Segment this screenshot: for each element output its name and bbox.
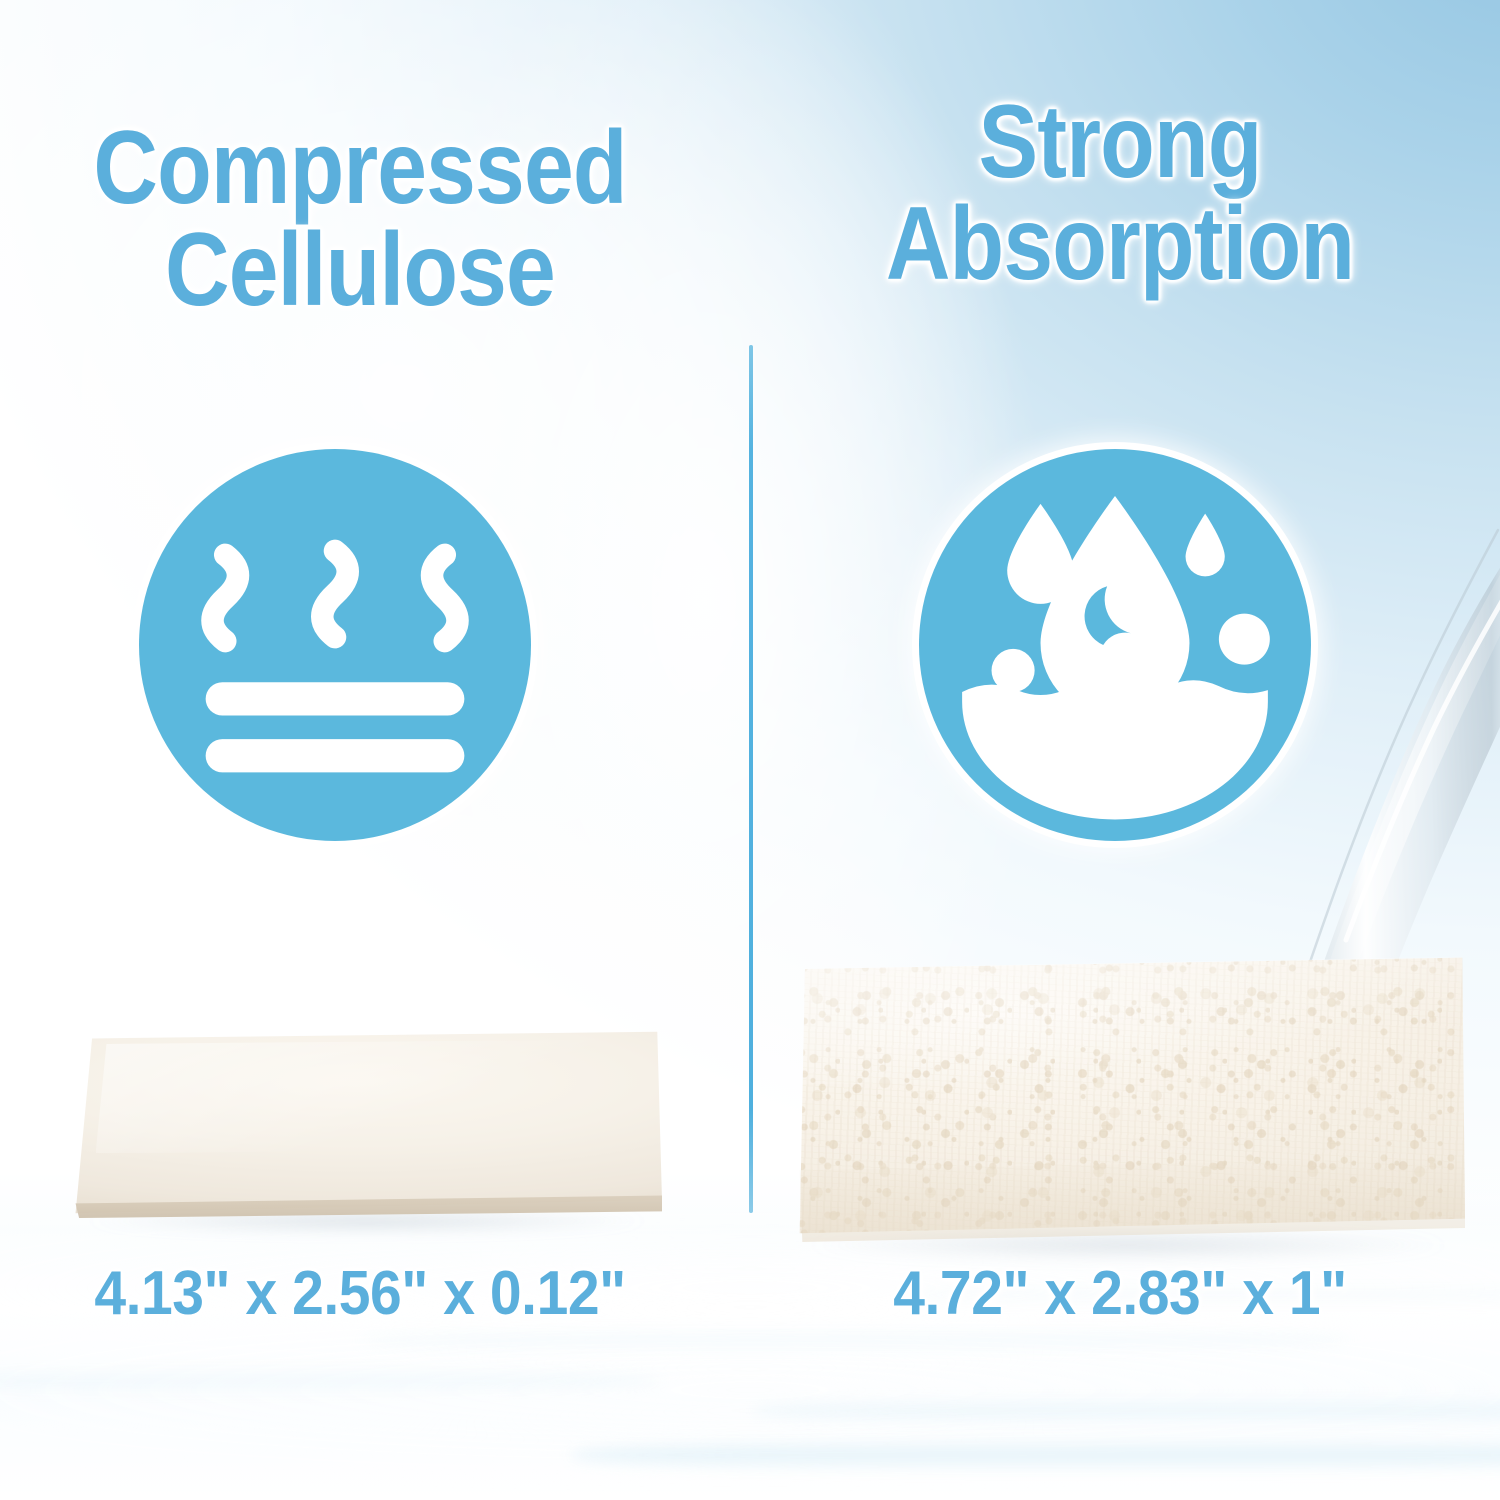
- water-absorption-icon: [919, 449, 1311, 841]
- expanded-cellulose-sponge: [797, 950, 1465, 1242]
- dimensions-compressed-sheet: 4.13" x 2.56" x 0.12": [29, 1258, 691, 1329]
- infographic-canvas: Compressed Cellulose Strong Absorption: [0, 0, 1500, 1500]
- vertical-divider: [749, 345, 753, 1213]
- thin-compressed-cellulose-sheet: [72, 1028, 662, 1218]
- dimensions-expanded-sponge: 4.72" x 2.83" x 1": [789, 1258, 1451, 1329]
- compressed-layers-icon: [139, 449, 531, 841]
- sheet-sheen: [96, 1039, 639, 1153]
- sponge-sheen: [797, 950, 1465, 1084]
- heading-compressed-cellulose: Compressed Cellulose: [50, 118, 669, 322]
- heading-strong-absorption: Strong Absorption: [810, 92, 1429, 296]
- water-ripple: [360, 1330, 1350, 1350]
